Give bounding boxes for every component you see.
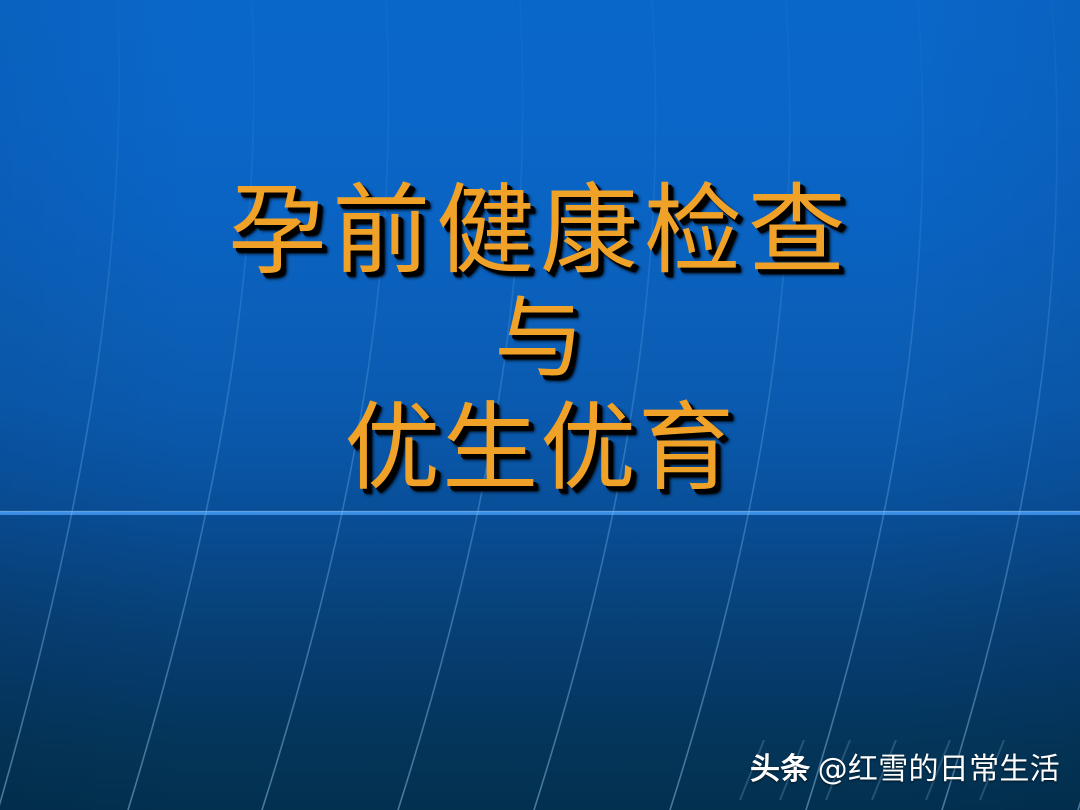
title-slide: 孕前健康检查 与 优生优育 头条 @红雪的日常生活 [0,0,1080,810]
title-line-3: 优生优育 [0,400,1080,496]
watermark-brand: 头条 [750,755,811,785]
slide-title: 孕前健康检查 与 优生优育 [0,182,1080,496]
watermark: 头条 @红雪的日常生活 [750,744,1060,796]
equator-highlight-line [0,512,1080,514]
watermark-handle: @红雪的日常生活 [818,755,1060,785]
title-line-1: 孕前健康检查 [0,182,1080,280]
title-line-2: 与 [0,294,1080,384]
watermark-text: 头条 @红雪的日常生活 [750,755,1060,785]
